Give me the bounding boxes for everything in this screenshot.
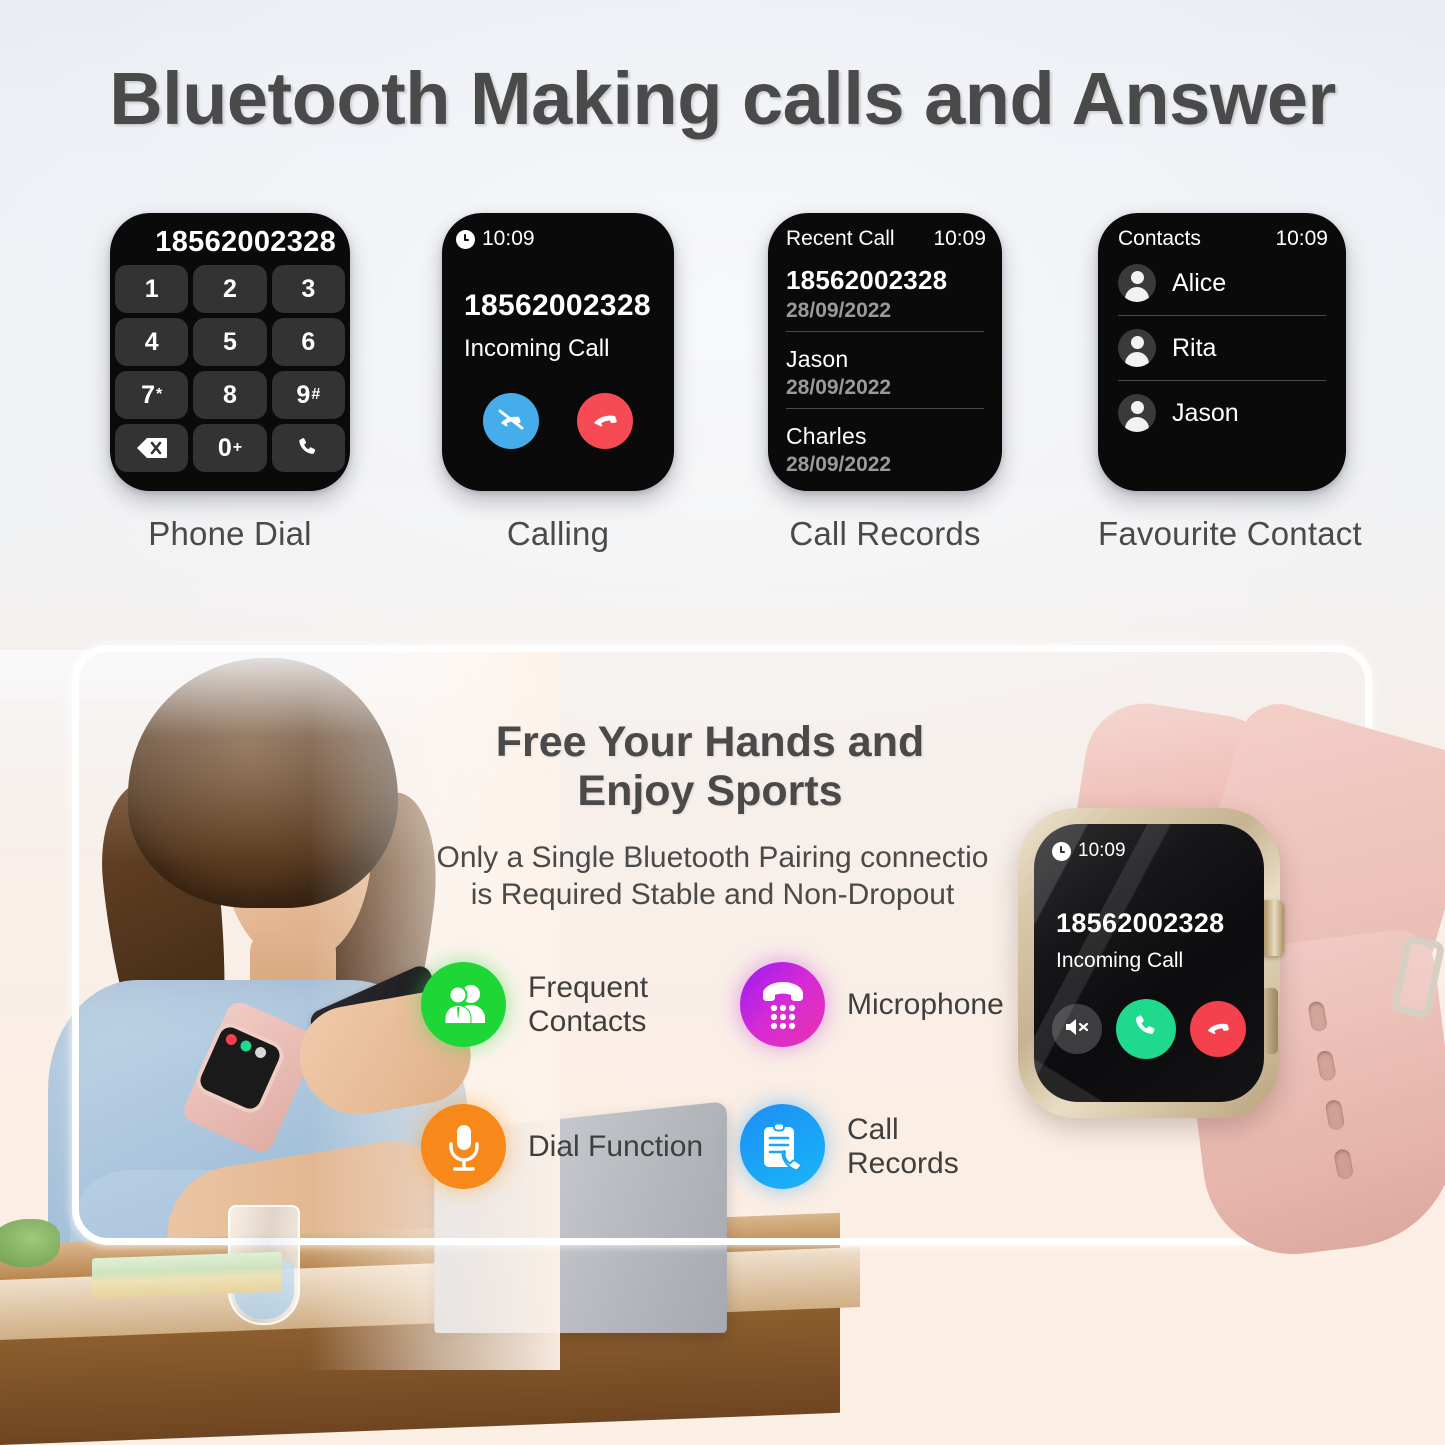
pink-smartwatch: 10:09 18562002328 Incoming Call [1000,700,1445,1260]
incoming-number: 18562002328 [1034,862,1264,939]
call-icon [296,436,320,460]
list-item[interactable]: Jason [1118,380,1326,445]
key-backspace[interactable] [115,424,188,472]
key-label: 4 [145,328,159,357]
phone-dial-screen[interactable]: 18562002328 1 2 3 4 5 6 7* 8 9# 0+ [110,213,350,491]
list-item[interactable]: Rita [1118,315,1326,380]
watch-card-call-records: Recent Call 10:09 18562002328 28/09/2022… [768,213,1002,553]
incoming-status: Incoming Call [442,323,674,363]
mini-mute-dot [253,1045,268,1060]
record-name: 18562002328 [786,265,984,296]
feature-label: Frequent Contacts [528,971,648,1038]
panel-title: Free Your Hands and Enjoy Sports [400,718,1020,815]
panel-sub-line1: Only a Single Bluetooth Pairing connecti… [390,840,1035,877]
key-label: 1 [145,275,159,304]
key-label: 2 [223,275,237,304]
decline-button[interactable] [577,393,633,449]
clock-icon [1052,842,1071,861]
key-sup: # [311,386,320,404]
mute-icon [1064,1016,1090,1043]
key-2[interactable]: 2 [193,265,266,313]
key-6[interactable]: 6 [272,318,345,366]
contacts-list: Alice Rita Jason [1098,251,1346,445]
watch-showcase-row: 18562002328 1 2 3 4 5 6 7* 8 9# 0+ [0,213,1445,573]
contacts-screen[interactable]: Contacts 10:09 Alice Rita Jason [1098,213,1346,491]
key-label: 7 [141,381,155,410]
key-label: 5 [223,328,237,357]
feature-label: Microphone [847,988,1004,1022]
records-list: 18562002328 28/09/2022 Jason 28/09/2022 … [768,251,1002,485]
mini-accept-dot [239,1039,254,1054]
panel-title-line2: Enjoy Sports [400,767,1020,816]
calling-screen[interactable]: 10:09 18562002328 Incoming Call [442,213,674,491]
pink-watch-screen[interactable]: 10:09 18562002328 Incoming Call [1034,824,1264,1102]
feature-dial-function[interactable]: Dial Function [421,1104,703,1189]
feature-label: Call Records [847,1113,959,1180]
feature-frequent-contacts[interactable]: Frequent Contacts [421,962,648,1047]
call-records-icon [740,1104,825,1189]
notebooks [92,1252,282,1299]
page-title: Bluetooth Making calls and Answer [0,56,1445,141]
avatar [1118,394,1156,432]
status-time: 10:09 [482,227,535,251]
status-bar: 10:09 [1034,824,1264,862]
watch-side-button[interactable] [1262,988,1278,1054]
key-sup: + [233,439,242,457]
plant-leaf [0,1219,60,1267]
list-item[interactable]: Alice [1118,251,1326,315]
caption-favourite-contact: Favourite Contact [1098,515,1346,553]
key-sup: * [156,386,162,404]
key-0[interactable]: 0+ [193,424,266,472]
avatar [1118,264,1156,302]
caption-calling: Calling [442,515,674,553]
contact-name: Rita [1172,334,1216,363]
key-label: 0 [218,434,232,463]
key-call[interactable] [272,424,345,472]
feature-list: Frequent Contacts Microphone Dial [415,962,1055,1222]
key-4[interactable]: 4 [115,318,188,366]
phone-answer-icon [497,405,525,438]
feature-call-records[interactable]: Call Records [740,1104,959,1189]
record-name: Charles [786,423,984,450]
status-time: 10:09 [1078,840,1126,862]
key-1[interactable]: 1 [115,265,188,313]
phone-answer-icon [1132,1013,1160,1046]
watch-card-phone-dial: 18562002328 1 2 3 4 5 6 7* 8 9# 0+ [110,213,350,553]
key-5[interactable]: 5 [193,318,266,366]
avatar [1118,329,1156,367]
mini-decline-dot [224,1032,239,1047]
incoming-number: 18562002328 [442,251,674,323]
panel-sub-line2: is Required Stable and Non-Dropout [390,877,1035,914]
key-7[interactable]: 7* [115,371,188,419]
answer-button[interactable] [483,393,539,449]
record-date: 28/09/2022 [786,453,984,477]
records-title: Recent Call [786,227,895,251]
contacts-time: 10:09 [1275,227,1328,251]
incoming-status: Incoming Call [1034,939,1264,973]
contact-name: Jason [1172,399,1239,428]
caption-phone-dial: Phone Dial [110,515,350,553]
key-label: 3 [301,275,315,304]
record-date: 28/09/2022 [786,376,984,400]
hair-top [128,658,398,908]
microphone-icon [421,1104,506,1189]
feature-microphone[interactable]: Microphone [740,962,1004,1047]
watch-card-calling: 10:09 18562002328 Incoming Call Calling [442,213,674,553]
watch-card-favourite-contact: Contacts 10:09 Alice Rita Jason Favourit… [1098,213,1346,553]
keypad[interactable]: 1 2 3 4 5 6 7* 8 9# 0+ [110,265,350,477]
caption-call-records: Call Records [768,515,1002,553]
list-item[interactable]: Charles 28/09/2022 [786,408,984,485]
key-label: 8 [223,381,237,410]
decline-button[interactable] [1190,1001,1246,1057]
status-bar: 10:09 [442,213,674,251]
key-label: 9 [296,381,310,410]
backspace-icon [137,437,167,459]
list-item[interactable]: Jason 28/09/2022 [786,331,984,408]
mute-button[interactable] [1052,1004,1102,1054]
key-3[interactable]: 3 [272,265,345,313]
feature-label: Dial Function [528,1130,703,1164]
record-date: 28/09/2022 [786,299,984,323]
key-label: 6 [301,328,315,357]
contact-name: Alice [1172,269,1226,298]
telephone-keypad-icon [740,962,825,1047]
phone-decline-icon [590,404,620,439]
panel-title-line1: Free Your Hands and [400,718,1020,767]
contacts-icon [421,962,506,1047]
records-header: Recent Call 10:09 [768,213,1002,251]
call-action-buttons [1034,973,1264,1059]
panel-subtitle: Only a Single Bluetooth Pairing connecti… [390,840,1035,913]
record-name: Jason [786,346,984,373]
dialed-number: 18562002328 [110,213,350,265]
phone-decline-icon [1204,1013,1232,1046]
contacts-header: Contacts 10:09 [1098,213,1346,251]
contacts-title: Contacts [1118,227,1201,251]
call-records-screen[interactable]: Recent Call 10:09 18562002328 28/09/2022… [768,213,1002,491]
clock-icon [456,230,475,249]
key-8[interactable]: 8 [193,371,266,419]
accept-button[interactable] [1116,999,1176,1059]
key-9[interactable]: 9# [272,371,345,419]
records-time: 10:09 [933,227,986,251]
call-action-buttons [442,363,674,449]
list-item[interactable]: 18562002328 28/09/2022 [786,251,984,331]
